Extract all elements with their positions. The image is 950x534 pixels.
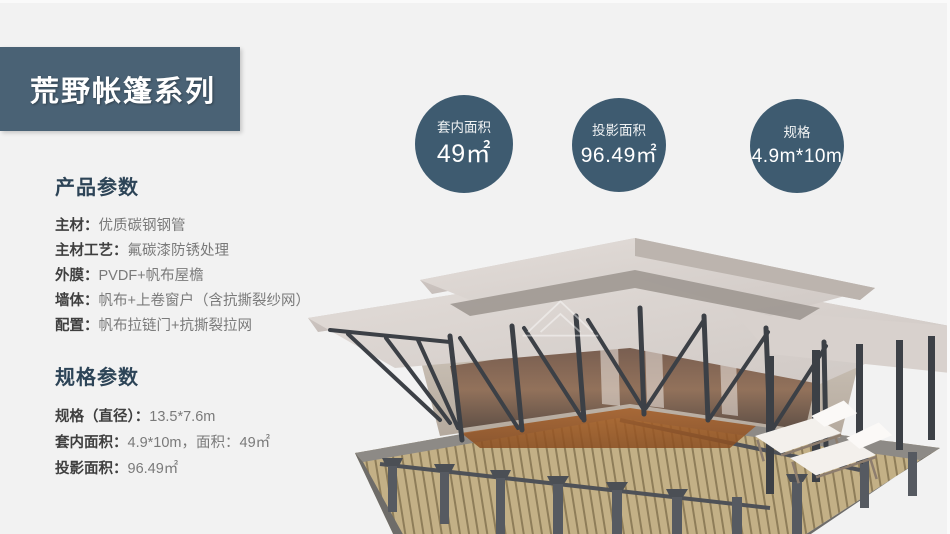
spec-value: 氟碳漆防锈处理 bbox=[128, 243, 230, 259]
spec-row: 墙体：帆布+上卷窗户（含抗撕裂纱网） bbox=[55, 289, 310, 314]
spec-value: 优质碳钢钢管 bbox=[99, 218, 186, 234]
slide-canvas: 荒野帐篷系列 产品参数 主材：优质碳钢钢管 主材工艺：氟碳漆防锈处理 外膜：PV… bbox=[0, 0, 950, 534]
spec-value: PVDF+帆布屋檐 bbox=[99, 268, 204, 284]
spec-label: 墙体： bbox=[55, 293, 99, 309]
badge-label: 投影面积 bbox=[592, 124, 646, 138]
spec-row: 配置：帆布拉链门+抗撕裂拉网 bbox=[55, 314, 310, 339]
spec-value: 96.49㎡ bbox=[128, 461, 179, 477]
title-banner: 荒野帐篷系列 bbox=[0, 47, 240, 131]
size-params-heading: 规格参数 bbox=[55, 361, 270, 390]
spec-label: 主材： bbox=[55, 218, 99, 234]
badge-label: 规格 bbox=[784, 126, 811, 140]
product-params-heading: 产品参数 bbox=[55, 171, 310, 200]
spec-row: 投影面积：96.49㎡ bbox=[55, 456, 270, 482]
spec-value: 帆布+上卷窗户（含抗撕裂纱网） bbox=[99, 293, 310, 309]
size-params-section: 规格参数 规格（直径）：13.5*7.6m 套内面积：4.9*10m，面积：49… bbox=[55, 361, 270, 482]
spec-label: 规格（直径）： bbox=[55, 409, 149, 425]
spec-value: 13.5*7.6m bbox=[149, 409, 215, 425]
spec-row: 外膜：PVDF+帆布屋檐 bbox=[55, 264, 310, 289]
badge-value: 96.49㎡ bbox=[581, 145, 658, 166]
spec-row: 主材工艺：氟碳漆防锈处理 bbox=[55, 239, 310, 264]
badge-inner-area: 套内面积 49㎡ bbox=[415, 95, 513, 193]
tent-render-image bbox=[300, 208, 950, 534]
spec-label: 投影面积： bbox=[55, 461, 128, 477]
spec-label: 配置： bbox=[55, 318, 99, 334]
spec-value: 帆布拉链门+抗撕裂拉网 bbox=[99, 318, 252, 334]
product-params-section: 产品参数 主材：优质碳钢钢管 主材工艺：氟碳漆防锈处理 外膜：PVDF+帆布屋檐… bbox=[55, 171, 310, 339]
spec-label: 主材工艺： bbox=[55, 243, 128, 259]
badge-spec: 规格 4.9m*10m bbox=[750, 99, 844, 193]
badge-projected-area: 投影面积 96.49㎡ bbox=[572, 98, 666, 192]
badge-value: 4.9m*10m bbox=[752, 147, 843, 166]
spec-label: 套内面积： bbox=[55, 435, 128, 451]
spec-row: 规格（直径）：13.5*7.6m bbox=[55, 404, 270, 430]
spec-row: 套内面积：4.9*10m，面积：49㎡ bbox=[55, 430, 270, 456]
badge-value: 49㎡ bbox=[437, 142, 491, 167]
badge-label: 套内面积 bbox=[437, 121, 491, 135]
spec-value: 4.9*10m，面积：49㎡ bbox=[128, 435, 271, 451]
spec-row: 主材：优质碳钢钢管 bbox=[55, 214, 310, 239]
spec-label: 外膜： bbox=[55, 268, 99, 284]
page-title: 荒野帐篷系列 bbox=[30, 68, 216, 110]
